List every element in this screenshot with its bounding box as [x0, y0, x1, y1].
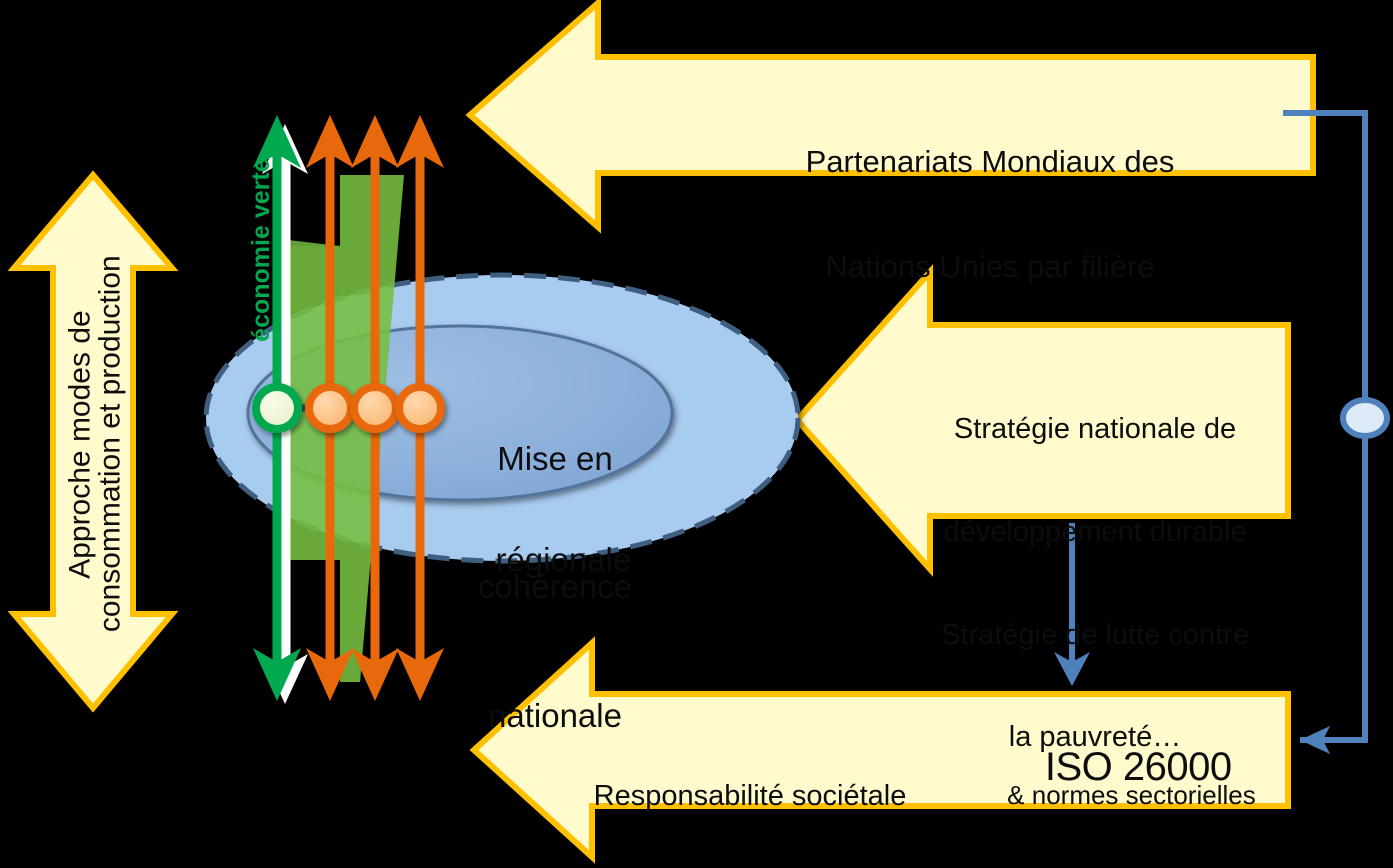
- top-arrow-text: Partenariats Mondiaux des Nations Unies …: [700, 76, 1280, 354]
- middle-arrow-line3: Stratégie de lutte contre: [900, 618, 1290, 652]
- ellipse-outer-label-text: régionale: [495, 541, 631, 578]
- blue-connector-loop: [1283, 113, 1387, 754]
- middle-arrow-line1: Stratégie nationale de: [900, 412, 1290, 446]
- ellipse-label-line3: nationale: [430, 695, 680, 738]
- green-axis-label: économie verte: [219, 149, 303, 379]
- iso-subtitle: & normes sectorielles: [962, 752, 1272, 839]
- left-arrow-label-line2: consommation et production: [60, 230, 161, 690]
- middle-arrow-line2: développement durable: [900, 515, 1290, 549]
- node-orange-1: [309, 387, 351, 429]
- top-arrow-line1: Partenariats Mondiaux des: [700, 145, 1280, 180]
- ellipse-label-line1: Mise en: [430, 438, 680, 481]
- connector-node: [1343, 400, 1387, 436]
- green-axis-label-text: économie verte: [247, 158, 275, 341]
- iso-subtitle-text: & normes sectorielles: [1007, 780, 1256, 810]
- top-arrow-line2: Nations Unies par filière: [700, 250, 1280, 285]
- left-arrow-line2-text: consommation et production: [93, 255, 126, 632]
- node-orange-2: [354, 387, 396, 429]
- ellipse-outer-label: régionale: [420, 505, 670, 616]
- node-chain: [256, 387, 441, 429]
- diagram-canvas: Approche modes de consommation et produc…: [0, 0, 1393, 868]
- node-green: [256, 387, 298, 429]
